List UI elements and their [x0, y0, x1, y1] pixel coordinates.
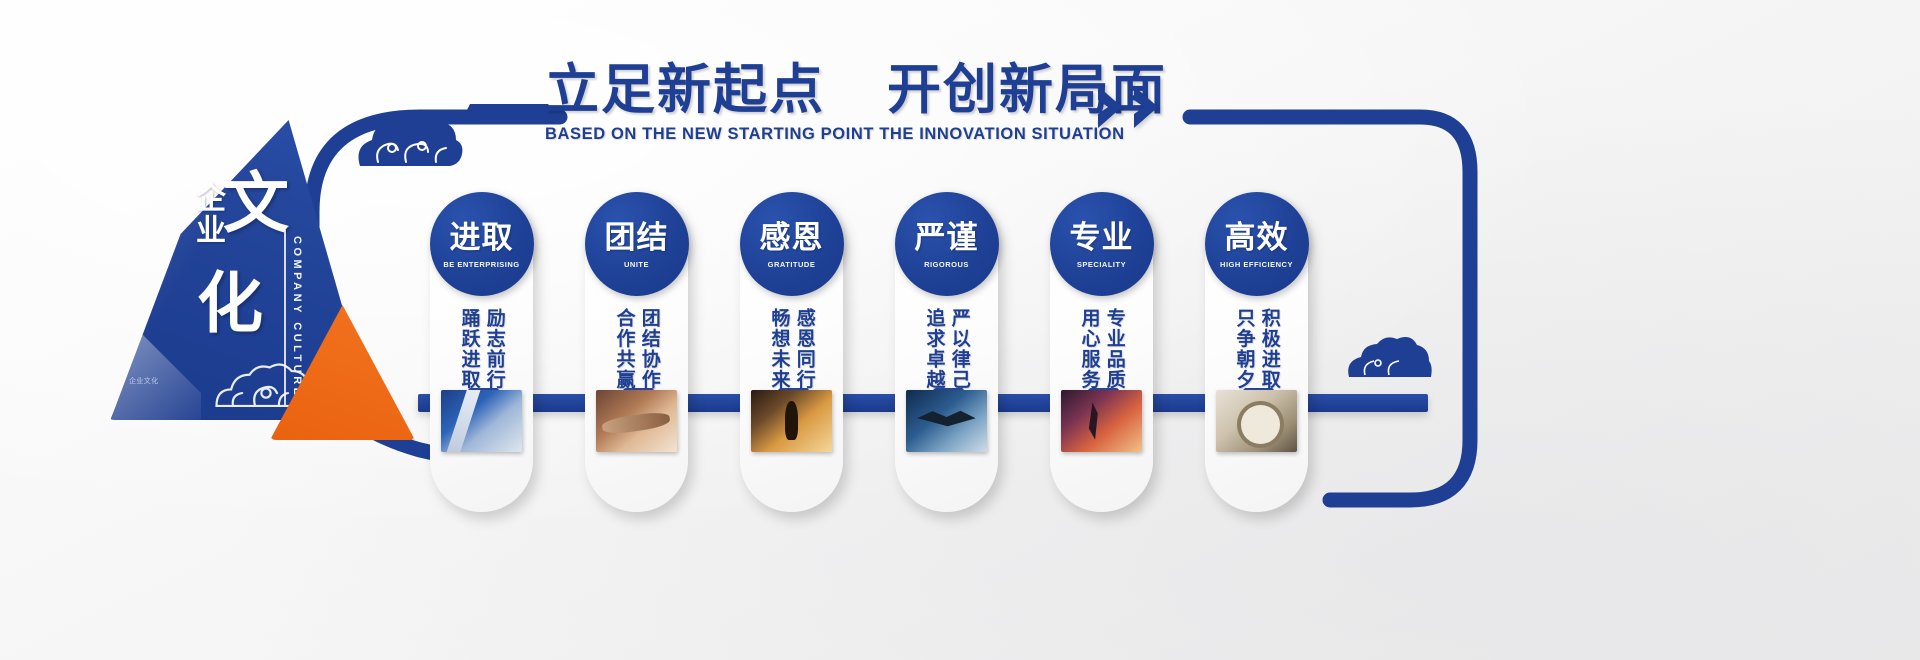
- value-badge-6: 高效 HIGH EFFICIENCY: [1205, 192, 1309, 296]
- value-badge-2: 团结 UNITE: [585, 192, 689, 296]
- value-pill-2[interactable]: 团结 UNITE 团结协作 合作共赢: [585, 192, 688, 512]
- value-subtitle-4: RIGOROUS: [924, 260, 969, 269]
- value-pill-3[interactable]: 感恩 GRATITUDE 感恩同行 畅想未来: [740, 192, 843, 512]
- value-photo-2: [596, 390, 677, 452]
- value-pill-row: 进取 BE ENTERPRISING 励志前行 踊跃进取 团结 UNITE 团结…: [0, 0, 1920, 660]
- value-subtitle-3: GRATITUDE: [768, 260, 816, 269]
- value-title-6: 高效: [1225, 222, 1289, 253]
- value-photo-1: [441, 390, 522, 452]
- value-photo-6: [1216, 390, 1297, 452]
- value-subtitle-1: BE ENTERPRISING: [443, 260, 519, 269]
- value-photo-5: [1061, 390, 1142, 452]
- culture-wall-scene: 企业 文 化 COMPANY CULTURE 企业文化 立足新起点 开创新局面: [0, 0, 1920, 660]
- value-badge-4: 严谨 RIGOROUS: [895, 192, 999, 296]
- value-badge-1: 进取 BE ENTERPRISING: [430, 192, 534, 296]
- value-subtitle-2: UNITE: [624, 260, 649, 269]
- value-pill-6[interactable]: 高效 HIGH EFFICIENCY 积极进取 只争朝夕: [1205, 192, 1308, 512]
- value-subtitle-6: HIGH EFFICIENCY: [1220, 260, 1293, 269]
- value-pill-5[interactable]: 专业 SPECIALITY 专业品质 用心服务: [1050, 192, 1153, 512]
- value-badge-3: 感恩 GRATITUDE: [740, 192, 844, 296]
- value-title-4: 严谨: [915, 222, 979, 253]
- value-title-2: 团结: [605, 222, 669, 253]
- value-title-5: 专业: [1070, 222, 1134, 253]
- value-title-1: 进取: [450, 222, 514, 253]
- value-photo-4: [906, 390, 987, 452]
- value-title-3: 感恩: [760, 222, 824, 253]
- value-subtitle-5: SPECIALITY: [1077, 260, 1126, 269]
- value-pill-1[interactable]: 进取 BE ENTERPRISING 励志前行 踊跃进取: [430, 192, 533, 512]
- value-pill-4[interactable]: 严谨 RIGOROUS 严以律己 追求卓越: [895, 192, 998, 512]
- value-badge-5: 专业 SPECIALITY: [1050, 192, 1154, 296]
- value-photo-3: [751, 390, 832, 452]
- chinese-cloud-ornament-icon-right: [1345, 335, 1441, 379]
